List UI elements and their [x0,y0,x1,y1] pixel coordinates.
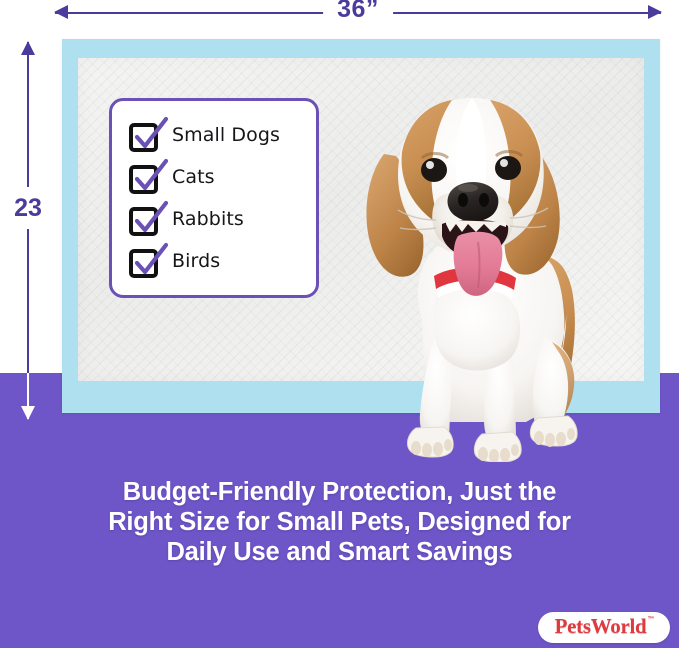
checklist-item-label: Cats [172,166,215,188]
checklist-item-label: Birds [172,250,220,272]
arrow-head-up-icon [21,41,35,55]
trademark-symbol: ™ [647,616,654,623]
arrow-head-right-icon [648,5,662,19]
headline-line-3: Daily Use and Smart Savings [40,537,639,567]
checkbox-checked-icon [130,248,158,274]
product-infographic: Small Dogs Cats Rabbits [0,0,679,648]
headline-line-2: Right Size for Small Pets, Designed for [40,507,639,537]
checklist-item: Cats [130,156,316,198]
checklist-item: Small Dogs [130,114,316,156]
checklist-item-label: Rabbits [172,208,244,230]
height-dimension: 23 [15,42,41,419]
beagle-dog-photo [330,70,620,462]
double-arrow-vertical-icon [27,42,29,419]
headline-line-1: Budget-Friendly Protection, Just the [40,477,639,507]
checklist-item: Birds [130,240,316,282]
checkbox-checked-icon [130,164,158,190]
arrow-head-left-icon [54,5,68,19]
width-dimension: 36” [55,0,661,26]
checklist-item-label: Small Dogs [172,124,280,146]
brand-logo: PetsWorld ™ [538,612,670,643]
height-dimension-label: 23 [14,187,42,229]
compatible-pets-card: Small Dogs Cats Rabbits [109,98,319,298]
width-dimension-label: 36” [323,0,393,24]
checklist-item: Rabbits [130,198,316,240]
checkbox-checked-icon [130,206,158,232]
brand-name: PetsWorld [555,614,647,639]
checkbox-checked-icon [130,122,158,148]
headline: Budget-Friendly Protection, Just the Rig… [40,477,639,567]
arrow-head-down-icon [21,406,35,420]
